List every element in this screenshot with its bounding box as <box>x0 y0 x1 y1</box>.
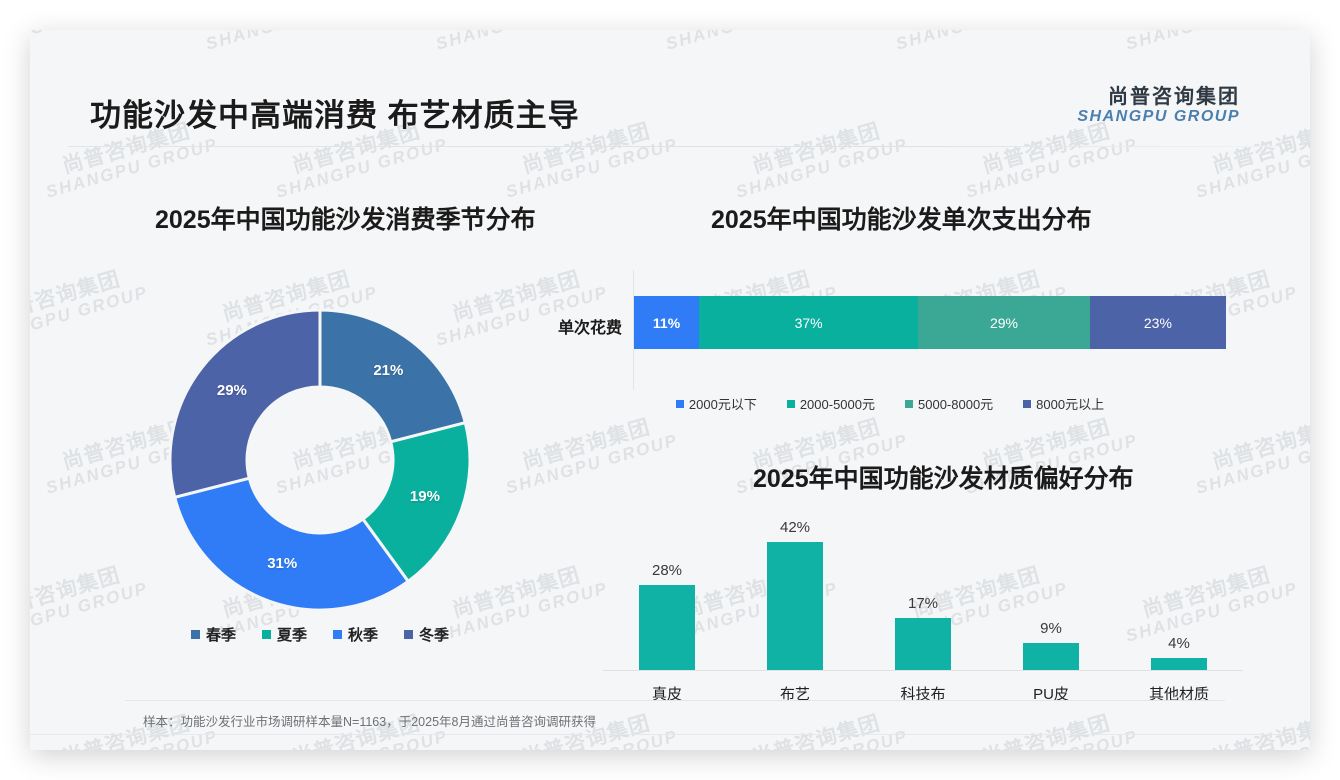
bar-value-label: 9% <box>1040 620 1062 637</box>
header-divider <box>68 146 1278 147</box>
logo-english: SHANGPU GROUP <box>1077 108 1240 126</box>
bar[interactable] <box>1151 658 1207 670</box>
bar-value-label: 17% <box>908 595 938 612</box>
legend-label: 8000元以上 <box>1036 394 1104 413</box>
donut-legend-item[interactable]: 秋季 <box>333 624 378 645</box>
bar[interactable] <box>767 542 823 670</box>
bar-value-label: 28% <box>652 562 682 579</box>
bar-column[interactable]: 17% <box>859 515 987 670</box>
website-link[interactable]: www.shangpu-china.com <box>1131 749 1270 750</box>
bar[interactable] <box>895 618 951 670</box>
bar[interactable] <box>1023 643 1079 670</box>
legend-swatch <box>787 400 795 408</box>
bar[interactable] <box>639 585 695 670</box>
material-bar-chart: 28%42%17%9%4% 真皮布艺科技布PU皮其他材质 <box>590 500 1250 710</box>
legend-swatch <box>404 630 413 639</box>
brand-logo: 尚普咨询集团 SHANGPU GROUP <box>1077 86 1240 126</box>
legend-swatch <box>191 630 200 639</box>
slide-header: 功能沙发中高端消费 布艺材质主导 尚普咨询集团 SHANGPU GROUP <box>30 30 1310 130</box>
legend-label: 冬季 <box>419 624 449 645</box>
spend-stacked-bar-chart: 单次花费 11%37%29%23% <box>530 270 1250 390</box>
watermark: 尚普咨询集团SHANGPU GROUP <box>1188 410 1310 497</box>
legend-label: 秋季 <box>348 624 378 645</box>
stacked-segment[interactable]: 37% <box>699 296 918 349</box>
donut-legend-item[interactable]: 夏季 <box>262 624 307 645</box>
bar-column[interactable]: 4% <box>1115 515 1243 670</box>
bar-series: 28%42%17%9%4% <box>603 515 1243 670</box>
legend-label: 2000-5000元 <box>800 394 875 413</box>
donut-slice-label: 31% <box>264 555 300 572</box>
donut-chart-title: 2025年中国功能沙发消费季节分布 <box>155 200 536 236</box>
stacked-chart-title: 2025年中国功能沙发单次支出分布 <box>711 200 1092 236</box>
stacked-legend-item[interactable]: 2000元以下 <box>676 394 757 413</box>
donut-slice[interactable] <box>175 478 408 610</box>
donut-slice-label: 21% <box>370 362 406 379</box>
donut-slice[interactable] <box>170 310 320 497</box>
copyright-text: ©2025.10 SHANGPU GROUP <box>70 749 239 750</box>
watermark: 尚普咨询集团SHANGPU GROUP <box>728 706 910 750</box>
bar-value-label: 42% <box>780 519 810 536</box>
stacked-legend-item[interactable]: 8000元以上 <box>1023 394 1104 413</box>
stacked-segment[interactable]: 29% <box>918 296 1090 349</box>
bar-column[interactable]: 42% <box>731 515 859 670</box>
stacked-legend-item[interactable]: 2000-5000元 <box>787 394 875 413</box>
stacked-legend-item[interactable]: 5000-8000元 <box>905 394 993 413</box>
bar-column[interactable]: 9% <box>987 515 1115 670</box>
legend-label: 2000元以下 <box>689 394 757 413</box>
stacked-segment[interactable]: 23% <box>1090 296 1226 349</box>
donut-slice-label: 19% <box>407 488 443 505</box>
page-title: 功能沙发中高端消费 布艺材质主导 <box>90 90 580 135</box>
logo-chinese: 尚普咨询集团 <box>1077 86 1240 108</box>
legend-swatch <box>676 400 684 408</box>
legend-swatch <box>905 400 913 408</box>
sample-footnote: 样本：功能沙发行业市场调研样本量N=1163，于2025年8月通过尚普咨询调研获… <box>143 711 596 730</box>
legend-swatch <box>1023 400 1031 408</box>
stacked-row-label: 单次花费 <box>530 314 622 338</box>
watermark: 尚普咨询集团SHANGPU GROUP <box>1188 706 1310 750</box>
legend-label: 夏季 <box>277 624 307 645</box>
legend-swatch <box>262 630 271 639</box>
donut-slice-label: 29% <box>214 382 250 399</box>
watermark: 尚普咨询集团SHANGPU GROUP <box>958 706 1140 750</box>
donut-legend: 春季夏季秋季冬季 <box>125 624 515 645</box>
seasonal-donut-chart: 21%19%31%29% <box>125 295 515 625</box>
bar-baseline <box>603 670 1243 671</box>
footnote-divider <box>125 700 1225 701</box>
stacked-legend: 2000元以下2000-5000元5000-8000元8000元以上 <box>530 394 1250 413</box>
slide-card: 尚普咨询集团SHANGPU GROUP尚普咨询集团SHANGPU GROUP尚普… <box>30 30 1310 750</box>
stacked-segment[interactable]: 11% <box>634 296 699 349</box>
legend-swatch <box>333 630 342 639</box>
bar-value-label: 4% <box>1168 635 1190 652</box>
donut-legend-item[interactable]: 冬季 <box>404 624 449 645</box>
legend-label: 春季 <box>206 624 236 645</box>
donut-svg <box>125 295 515 625</box>
stacked-bar: 11%37%29%23% <box>634 296 1226 349</box>
watermark: 尚普咨询集团SHANGPU GROUP <box>498 410 680 497</box>
legend-label: 5000-8000元 <box>918 394 993 413</box>
bar-chart-title: 2025年中国功能沙发材质偏好分布 <box>753 459 1134 495</box>
footer-divider <box>30 734 1310 735</box>
bar-column[interactable]: 28% <box>603 515 731 670</box>
donut-legend-item[interactable]: 春季 <box>191 624 236 645</box>
